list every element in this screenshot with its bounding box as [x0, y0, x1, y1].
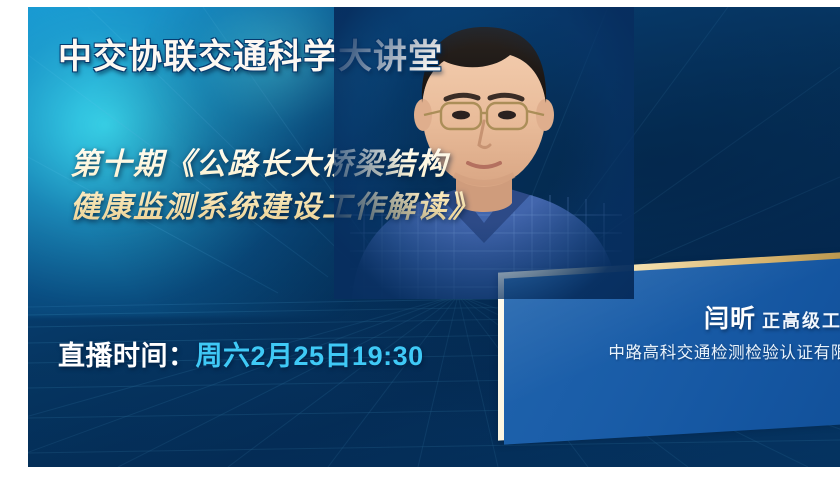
speaker-photo — [334, 7, 634, 299]
photo-edge-fade — [334, 7, 634, 299]
live-time-label: 直播时间： — [58, 341, 196, 371]
poster-canvas: 中交协联交通科学大讲堂 第十期《公路长大桥梁结构 健康监测系统建设工作解读》 直… — [28, 7, 840, 467]
live-time-line: 直播时间：周六2月25日19:30 — [58, 334, 424, 373]
live-time-value: 周六2月25日19:30 — [196, 341, 424, 371]
